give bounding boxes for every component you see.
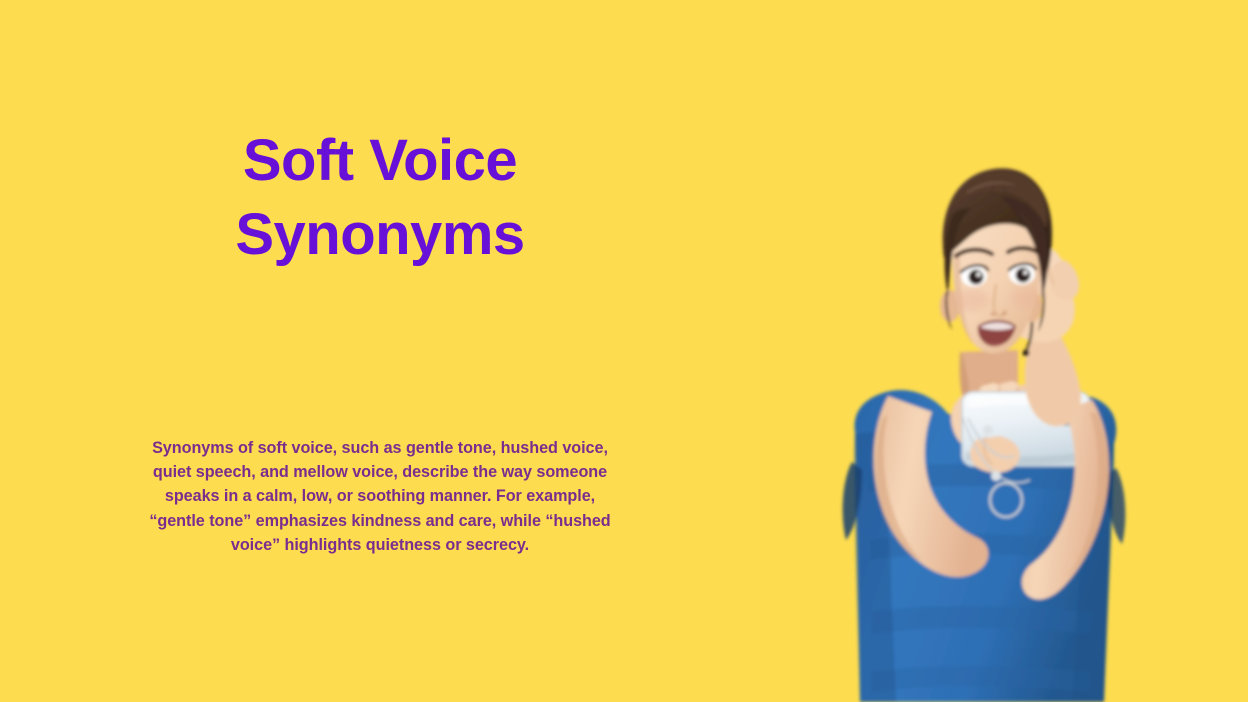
slide-canvas: Soft Voice Synonyms Synonyms of soft voi… [0,0,1248,702]
page-title: Soft Voice Synonyms [60,124,700,272]
body-paragraph: Synonyms of soft voice, such as gentle t… [145,436,615,557]
text-column: Soft Voice Synonyms Synonyms of soft voi… [0,0,760,702]
woman-with-phone-illustration [700,0,1248,702]
photo-figure [700,0,1248,702]
